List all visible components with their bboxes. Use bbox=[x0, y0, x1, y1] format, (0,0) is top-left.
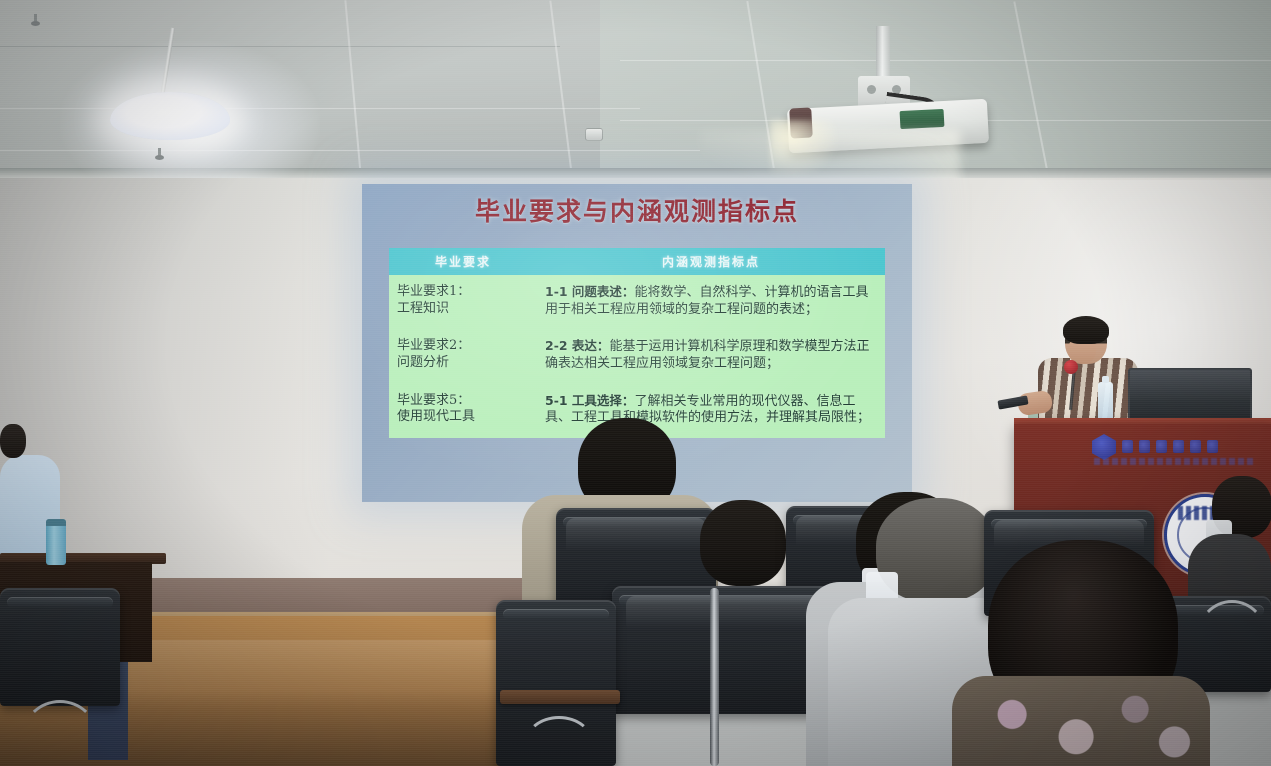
indicator-code: 5-1 工具选择： bbox=[545, 393, 634, 408]
projector-lens bbox=[789, 107, 813, 138]
requirement-subtitle: 工程知识 bbox=[397, 301, 529, 318]
slide-title: 毕业要求与内涵观测指标点 bbox=[362, 192, 912, 228]
chair-chrome-leg bbox=[22, 700, 98, 766]
attendee-center-young-head bbox=[700, 500, 786, 586]
ceiling-lamp-icon bbox=[110, 92, 230, 140]
podium-char bbox=[1190, 440, 1201, 453]
smoke-detector-icon bbox=[585, 128, 603, 141]
attendee-head bbox=[0, 424, 26, 458]
seat bbox=[0, 588, 120, 706]
chair-chrome-leg bbox=[524, 716, 594, 766]
requirement-subtitle: 问题分析 bbox=[397, 355, 529, 372]
podium-char bbox=[1207, 440, 1218, 453]
ceiling-grid-line bbox=[0, 150, 700, 151]
stanchion-post bbox=[710, 588, 719, 766]
ceiling-grid-line bbox=[0, 108, 640, 109]
presenter-hair bbox=[1063, 316, 1109, 344]
column-header-indicator: 内涵观测指标点 bbox=[537, 248, 885, 275]
indicator-code: 2-2 表达： bbox=[545, 338, 609, 353]
ceiling-grid-line bbox=[0, 46, 560, 47]
indicator-code: 1-1 问题表述： bbox=[545, 284, 634, 299]
cell-requirement: 毕业要求2： 问题分析 bbox=[389, 329, 537, 383]
podium-char bbox=[1122, 440, 1133, 453]
thermos-tumbler-icon bbox=[46, 519, 66, 565]
requirement-title: 毕业要求5： bbox=[397, 393, 529, 410]
podium-char bbox=[1173, 440, 1184, 453]
table-row: 毕业要求1： 工程知识 1-1 问题表述：能将数学、自然科学、计算机的语言工具用… bbox=[389, 275, 885, 329]
table-row: 毕业要求2： 问题分析 2-2 表达：能基于运用计算机科学原理和数学模型方法正确… bbox=[389, 329, 885, 383]
cell-indicator: 5-1 工具选择：了解相关专业常用的现代仪器、信息工具、工程工具和模拟软件的使用… bbox=[537, 384, 885, 438]
microphone-icon bbox=[1064, 360, 1078, 374]
requirement-title: 毕业要求1： bbox=[397, 284, 529, 301]
ceiling-right-section bbox=[600, 0, 1271, 178]
podium-university-name bbox=[1122, 436, 1240, 456]
lecture-hall-photo: 毕业要求与内涵观测指标点 毕业要求 内涵观测指标点 毕业要求1： 工程知识 1-… bbox=[0, 0, 1271, 766]
ceiling-grid-line bbox=[620, 60, 1271, 61]
cell-indicator: 1-1 问题表述：能将数学、自然科学、计算机的语言工具用于相关工程应用领域的复杂… bbox=[537, 275, 885, 329]
table-header-row: 毕业要求 内涵观测指标点 bbox=[389, 248, 885, 275]
requirement-subtitle: 使用现代工具 bbox=[397, 409, 529, 426]
cell-requirement: 毕业要求5： 使用现代工具 bbox=[389, 384, 537, 438]
podium-char bbox=[1139, 440, 1150, 453]
chair-chrome-leg bbox=[1196, 600, 1268, 676]
projector-panel bbox=[900, 109, 945, 129]
column-header-requirement: 毕业要求 bbox=[389, 248, 537, 275]
podium-char bbox=[1156, 440, 1167, 453]
sprinkler-icon bbox=[155, 148, 164, 161]
floral-pattern bbox=[958, 680, 1204, 766]
graduation-requirements-table: 毕业要求 内涵观测指标点 毕业要求1： 工程知识 1-1 问题表述：能将数学、自… bbox=[389, 248, 885, 438]
podium-latin-text bbox=[1094, 458, 1254, 465]
seat-armrest bbox=[500, 690, 620, 704]
sprinkler-icon bbox=[31, 14, 40, 27]
requirement-title: 毕业要求2： bbox=[397, 338, 529, 355]
cell-requirement: 毕业要求1： 工程知识 bbox=[389, 275, 537, 329]
cell-indicator: 2-2 表达：能基于运用计算机科学原理和数学模型方法正确表达相关工程应用领域复杂… bbox=[537, 329, 885, 383]
